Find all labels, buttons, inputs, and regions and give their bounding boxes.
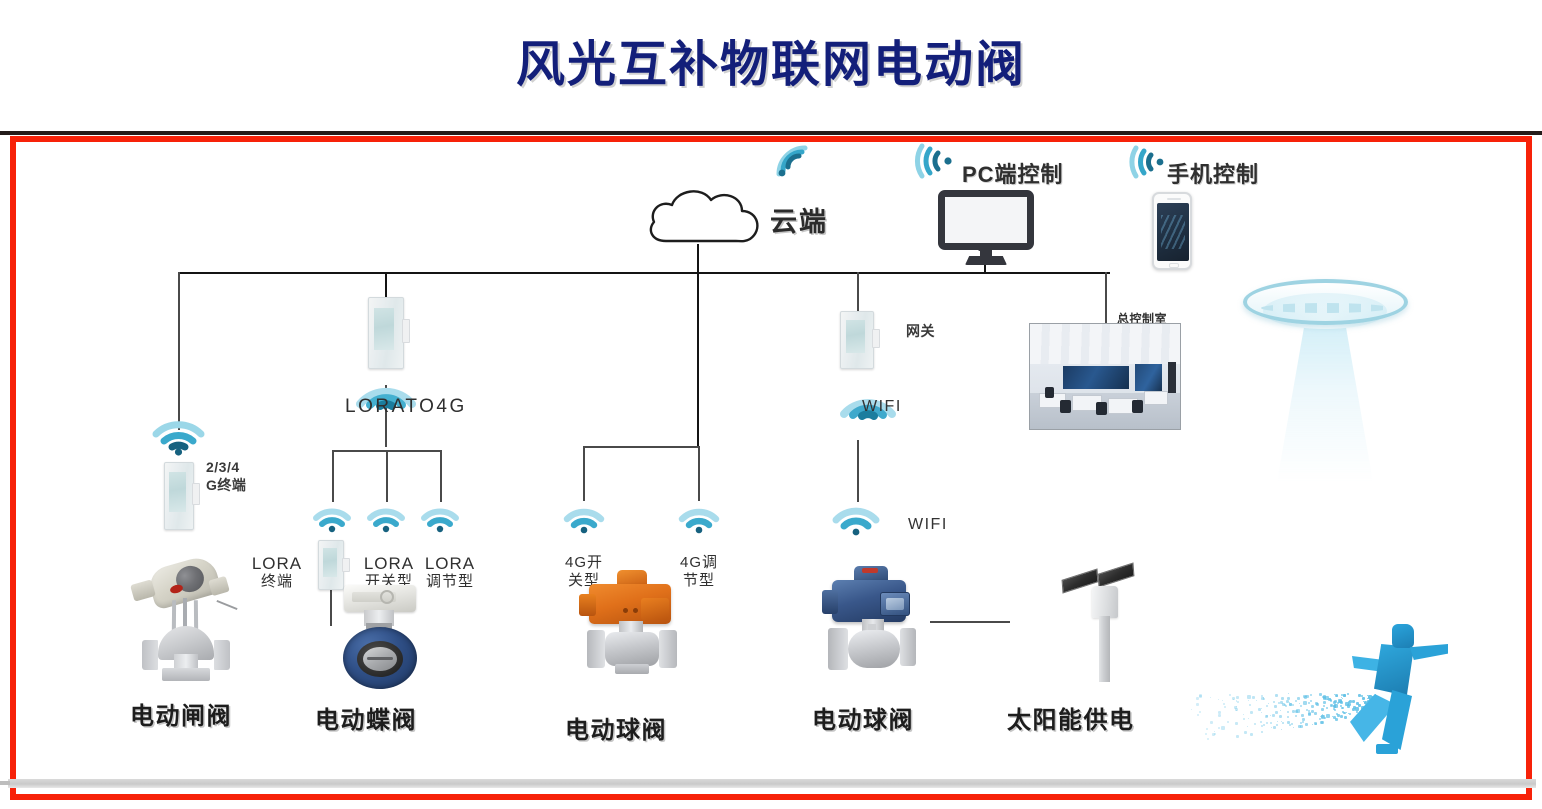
runner-particle [1279,715,1282,718]
lora-to-4g-label: LORATO4G [345,396,467,418]
runner-particle [1268,703,1269,704]
runner-particle [1308,702,1310,704]
gate-valve-flange-left [142,640,158,670]
runner-particle [1270,722,1272,724]
runner-particle [1275,694,1278,697]
runner-particle [1263,724,1265,726]
solar-power-caption: 太阳能供电 [1007,700,1135,735]
runner-leg-front [1382,690,1412,750]
runner-arm-front [1410,644,1448,660]
control-room-ceiling [1030,324,1180,364]
runner-particle [1266,705,1268,707]
runner-particle [1300,705,1302,707]
electric-ball-valve-blue-icon [820,568,930,688]
runner-particle [1311,705,1314,708]
lora-regulating-wifi-icon [420,502,460,534]
solar-pole [1099,616,1110,682]
runner-particle [1236,696,1239,699]
runner-particle [1243,714,1244,715]
phone-home-button [1169,263,1179,268]
electric-butterfly-valve-caption: 电动蝶阀 [315,700,417,735]
runner-particle [1295,700,1297,702]
electric-ball-valve-orange-caption: 电动球阀 [565,710,667,745]
runner-particle [1310,694,1312,696]
terminal-wifi-icon [151,412,206,456]
runner-particle [1276,724,1278,726]
control-room-videowall-side [1135,364,1162,391]
runner-torso [1374,644,1414,696]
runner-particle [1250,711,1253,714]
runner-particle [1303,701,1307,705]
connector-lora-branch-3 [440,450,442,502]
runner-particle [1319,718,1321,720]
ball-valve-blue-indicator [862,568,878,573]
runner-particle [1288,693,1289,694]
diagram-page: 风光互补物联网电动阀 云端 [0,0,1542,809]
lora-terminal-wifi-icon [312,502,352,534]
runner-particle [1254,723,1256,725]
title-divider [0,131,1542,135]
runner-particle [1289,703,1292,706]
connector-4g-branch-1 [583,446,585,501]
ball-valve-orange-terminal-box [641,598,669,620]
electric-gate-valve-icon [128,562,248,687]
phone-earpiece [1167,198,1181,200]
device-terminal-block [402,319,410,343]
solar-panel-right [1098,562,1135,587]
runner-particle [1250,733,1253,736]
control-room-column [1168,362,1176,396]
runner-particle [1292,710,1295,713]
runner-particle [1232,697,1235,700]
lora-to-4g-device-icon [368,297,404,369]
runner-particle [1304,696,1307,699]
cloud-icon [644,178,769,248]
runner-particle [1323,705,1325,707]
runner-particle [1286,700,1289,703]
gate-valve-wire [216,600,237,610]
runner-particle [1278,702,1280,704]
runner-particle [1298,725,1301,728]
running-man-pixel-icon [1190,620,1460,765]
4g-switch-wifi-icon [563,502,605,536]
runner-particle [1197,714,1199,716]
runner-particle [1266,722,1268,724]
runner-particle [1275,711,1278,714]
ball-valve-orange-bottom [615,664,649,674]
runner-particle [1229,694,1231,696]
control-room-videowall [1063,366,1129,389]
runner-particle [1218,699,1219,700]
device-terminal-block [872,329,880,348]
control-room-photo [1029,323,1181,430]
runner-particle [1310,700,1312,702]
connector-valve-to-solar [930,621,1010,623]
runner-particle [1243,718,1245,720]
runner-particle [1248,718,1249,719]
runner-particle [1287,711,1289,713]
terminal-2-3-4g-label-line2: G终端 [206,476,268,495]
runner-particle [1280,710,1281,711]
connector-4g-branch-2 [698,446,700,501]
runner-particle [1323,701,1326,704]
runner-particle [1315,723,1317,725]
smartphone-icon [1152,192,1192,270]
device-window [323,548,337,577]
butterfly-disc [363,647,397,671]
electric-butterfly-valve-icon [326,585,434,697]
monitor-screen [938,190,1034,250]
runner-particle [1236,735,1239,738]
runner-particle [1206,728,1208,730]
runner-particle [1236,701,1237,702]
solar-battery-box [1092,586,1118,618]
cloud-label: 云端 [770,200,828,239]
connector-main-bus [178,272,1110,274]
runner-particle [1221,726,1225,730]
device-terminal-block [342,558,350,571]
4g-regulating-wifi-icon [678,502,720,536]
wifi-node-icon [832,502,880,538]
runner-particle [1326,714,1330,718]
runner-particle [1277,721,1278,722]
runner-particle [1247,726,1248,727]
solar-panel-pole-icon [1058,562,1148,692]
runner-particle [1248,700,1249,701]
runner-particle [1272,714,1275,717]
runner-particle [1326,707,1328,709]
ball-valve-orange-bolt [633,608,638,613]
runner-particle [1260,721,1262,723]
device-window [374,308,394,350]
device-window [846,320,865,354]
control-room-chair [1060,400,1071,414]
runner-particle [1191,709,1192,710]
runner-particle [1196,697,1199,700]
runner-particle [1289,702,1290,703]
ufo-light-beam-icon [1243,275,1408,485]
4g-switch-label-line1: 4G开 [545,553,623,573]
ball-valve-blue-flange-left [828,628,848,670]
lora-terminal-label-line2: 终端 [244,572,310,592]
cloud-wifi-signal-icon [771,140,815,180]
runner-particle [1273,726,1276,729]
runner-particle [1196,703,1199,706]
lora-terminal-device-icon [318,540,344,590]
runner-particle [1317,703,1318,704]
runner-particle [1274,705,1277,708]
ball-valve-orange-bolt [623,608,628,613]
pc-wifi-signal-icon [912,140,960,182]
runner-particle [1302,721,1304,723]
mobile-control-label: 手机控制 [1167,157,1259,189]
runner-particle [1321,715,1324,718]
control-room-desk [1144,391,1168,405]
gate-valve-actuator-side-box2 [208,576,230,596]
pc-control-label: PC端控制 [962,157,1064,189]
control-room-chair [1132,400,1143,414]
runner-particle [1287,716,1289,718]
terminal-2-3-4g-device-icon [164,462,194,530]
runner-particle [1273,701,1275,703]
connector-4g-subbus [583,446,699,448]
runner-particle [1218,714,1221,717]
runner-particle [1247,695,1251,699]
runner-particle [1305,723,1308,726]
runner-particle [1256,700,1257,701]
connector-drop-4ggroup [697,272,699,447]
runner-particle [1212,733,1215,736]
runner-particle [1265,715,1268,718]
runner-particle [1296,709,1300,713]
runner-particle [1199,711,1201,713]
runner-particle [1292,704,1294,706]
runner-particle [1295,715,1297,717]
ball-valve-blue-side-box [822,590,838,614]
title-bar: 风光互补物联网电动阀 [0,0,1542,130]
bottom-accent-bar [8,779,1536,788]
runner-particle [1281,697,1284,700]
mobile-wifi-signal-icon [1126,142,1172,182]
runner-particle [1281,729,1282,730]
lora-switch-wifi-icon [366,502,406,534]
gateway-device-icon [840,311,874,369]
runner-particle [1297,697,1300,700]
runner-head [1392,624,1414,648]
ufo-beam [1277,317,1373,482]
runner-particle [1218,727,1220,729]
connector-drop-2g3g4g [178,272,180,430]
runner-particle [1324,717,1326,719]
runner-particle [1252,696,1255,699]
control-room-chair [1096,402,1107,416]
runner-particle [1314,712,1317,715]
runner-particle [1210,721,1213,724]
ball-valve-orange-flange-left [587,630,605,668]
device-terminal-block [192,483,200,505]
4g-regulating-label-line1: 4G调 [660,553,738,573]
butterfly-handwheel [380,590,394,604]
runner-particle [1244,731,1247,734]
runner-particle [1289,724,1291,726]
runner-particle [1321,708,1324,711]
runner-particle [1223,703,1225,705]
connector-drop-controlroom [1105,272,1107,324]
runner-particle [1322,714,1323,715]
runner-particle [1301,714,1304,717]
page-title: 风光互补物联网电动阀 [516,41,1026,90]
ball-valve-orange-flange-right [659,630,677,668]
electric-ball-valve-orange-icon [575,578,687,690]
runner-particle [1218,711,1221,714]
runner-particle [1293,727,1294,728]
connector-wifi-to-valve [857,440,859,502]
runner-foot [1376,744,1398,754]
connector-lora-branch-1 [332,450,334,502]
electric-gate-valve-caption: 电动闸阀 [130,696,232,731]
terminal-2-3-4g-label-line1: 2/3/4 [206,458,262,477]
monitor-base [965,256,1007,265]
ball-valve-blue-terminal-box [880,592,910,616]
connector-cloud-stem [697,244,699,274]
runner-particle [1249,704,1251,706]
runner-particle [1282,722,1284,724]
gate-valve-actuator-side-box [130,579,156,601]
runner-particle [1207,738,1209,740]
runner-particle [1311,710,1314,713]
runner-particle [1299,703,1300,704]
runner-particle [1261,731,1263,733]
ball-valve-orange-body [605,632,659,666]
ufo-ring-dashes [1261,303,1389,313]
runner-particle [1261,712,1262,713]
ufo-ring [1243,279,1408,325]
connector-lora-branch-2 [386,450,388,502]
runner-particle [1199,695,1202,698]
ball-valve-orange-side-box [579,594,596,616]
connector-drop-loratop [385,272,387,298]
runner-particle [1227,721,1229,723]
runner-particle [1322,696,1324,698]
runner-particle [1224,706,1226,708]
runner-particle [1285,705,1287,707]
connector-drop-gateway [857,272,859,309]
runner-figure [1330,620,1450,765]
gateway-label: 网关 [906,322,952,341]
electric-ball-valve-blue-caption: 电动球阀 [812,700,914,735]
runner-particle [1308,713,1311,716]
phone-screen [1157,203,1189,261]
gate-valve-base [162,668,210,681]
gateway-wifi-label: WIFI [862,398,902,416]
device-window [169,472,185,512]
ball-valve-blue-flange-right [900,628,916,666]
runner-particle [1321,721,1324,724]
gate-valve-flange-right [214,640,230,670]
ball-valve-blue-body [848,630,900,668]
runner-particle [1312,724,1313,725]
runner-particle [1236,710,1237,711]
runner-particle [1210,697,1211,698]
monitor-icon [938,190,1034,262]
wifi-node-label: WIFI [908,516,948,534]
runner-particle [1205,733,1207,735]
control-room-chair [1045,387,1054,398]
runner-particle [1222,700,1223,701]
runner-particle [1235,722,1238,725]
runner-particle [1291,723,1293,725]
